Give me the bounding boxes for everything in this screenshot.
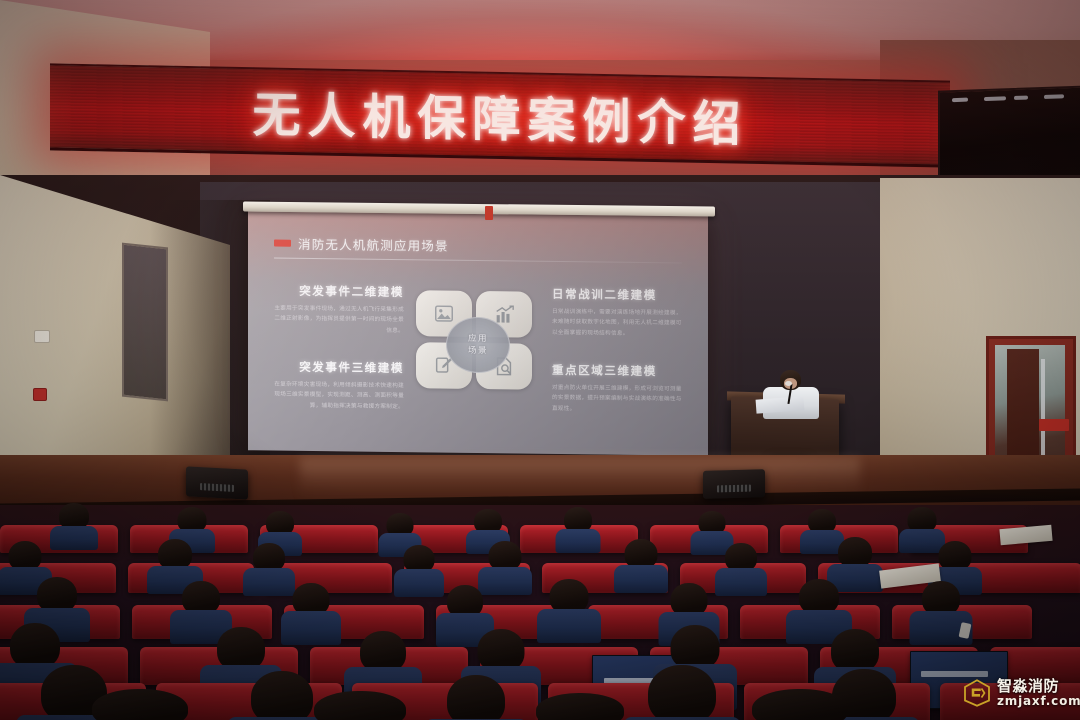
slide-quadrant-top-right: 日常战训二维建模 日常战训演练中，需要对演练场地开展测绘建模，未难随时获取数字化… [552, 286, 684, 340]
power-outlet[interactable] [34, 330, 50, 343]
quadrant-body: 在复杂环境灾害现场，利用倾斜摄影技术快速构建现场三维实景模型，实现测距、测高、测… [274, 380, 404, 413]
microphone-head [785, 381, 792, 386]
watermark-text: 智淼消防 zmjaxf.com [997, 679, 1080, 707]
audience-member [480, 539, 530, 589]
auditorium-photo: 无人机保障案例介绍 消防无人机航测应用场景 突发事件二维建模 主要用于突发事件现… [0, 0, 1080, 720]
slide-quadrant-bottom-right: 重点区域三维建模 对重点防火单位开展三维建模，形成可浏览可测量的实景数据，提升预… [552, 362, 684, 416]
audience-member [540, 577, 598, 637]
slide-petal-diagram: 应用 场景 [416, 290, 540, 398]
watermark: 智淼消防 zmjaxf.com [962, 678, 1080, 708]
quadrant-heading: 突发事件三维建模 [274, 359, 404, 377]
slide-title-row: 消防无人机航测应用场景 [274, 234, 449, 255]
presentation-slide: 消防无人机航测应用场景 突发事件二维建模 主要用于突发事件现场，通过无人机飞行采… [248, 210, 708, 456]
image-icon [433, 302, 455, 324]
slide-quadrant-bottom-left: 突发事件三维建模 在复杂环境灾害现场，利用倾斜摄影技术快速构建现场三维实景模型，… [274, 359, 404, 413]
hub-label-line1: 应用 [468, 333, 488, 346]
audience-member [556, 505, 600, 549]
watermark-url: zmjaxf.com [997, 695, 1080, 708]
audience-member [616, 537, 666, 587]
wall-mounted-display[interactable] [938, 85, 1080, 186]
quadrant-heading: 突发事件二维建模 [274, 283, 404, 301]
quadrant-body: 主要用于突发事件现场，通过无人机飞行采集形成二维正射影像，为指挥员提供第一时间的… [274, 304, 404, 337]
led-banner-text: 无人机保障案例介绍 [50, 65, 950, 164]
quadrant-heading: 重点区域三维建模 [552, 362, 684, 380]
audience-member [740, 689, 860, 720]
stage-monitor-speaker-right [703, 469, 765, 499]
led-scrolling-banner: 无人机保障案例介绍 [50, 63, 950, 167]
stage-monitor-speaker-left [186, 466, 248, 499]
screen-pull-tab[interactable] [485, 206, 493, 220]
hub-label-line2: 场景 [468, 345, 488, 358]
audience-member [430, 673, 522, 720]
slide-quadrant-top-left: 突发事件二维建模 主要用于突发事件现场，通过无人机飞行采集形成二维正射影像，为指… [274, 283, 404, 337]
quadrant-body: 日常战训演练中，需要对演练场地开展测绘建模，未难随时获取数字化地图，利用无人机二… [552, 307, 684, 340]
side-doorway[interactable] [122, 243, 168, 402]
slide-accent-marker [274, 240, 291, 247]
audience-member [636, 663, 728, 720]
brand-logo-icon [962, 678, 992, 708]
watermark-brand: 智淼消防 [997, 679, 1080, 695]
quadrant-heading: 日常战训二维建模 [552, 286, 684, 304]
slide-title: 消防无人机航测应用场景 [298, 234, 449, 255]
slide-divider [274, 258, 682, 264]
audience-area [0, 505, 1080, 720]
fire-alarm-call-point[interactable] [33, 388, 47, 401]
red-exit-sign [1039, 419, 1069, 431]
audience-member [52, 501, 96, 545]
audience-member [80, 689, 200, 720]
audience-member [282, 581, 340, 641]
audience-member [716, 541, 766, 591]
audience-member [300, 691, 420, 720]
quadrant-body: 对重点防火单位开展三维建模，形成可浏览可测量的实景数据，提升预案编制与实战演练的… [552, 383, 684, 416]
audience-member [520, 693, 640, 720]
slide-center-hub: 应用 场景 [446, 317, 510, 374]
projection-screen: 消防无人机航测应用场景 突发事件二维建模 主要用于突发事件现场，通过无人机飞行采… [248, 210, 708, 456]
